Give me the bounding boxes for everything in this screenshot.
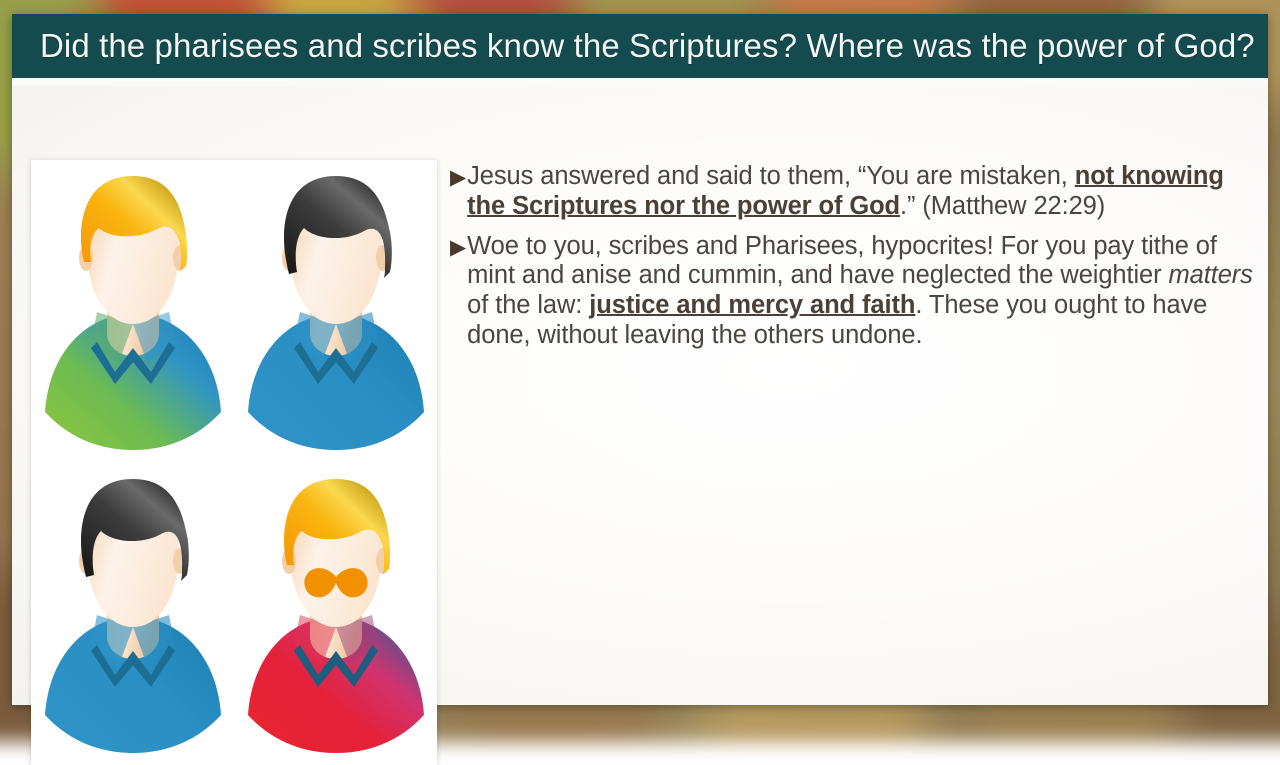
avatar-blond-mustache-red-icon [238,469,434,759]
avatar-dark-blue-icon [35,469,231,759]
bullet-1-segment-plain: Jesus answered and said to them, “You ar… [467,162,1075,190]
slide-body: ▶ Jesus answered and said to them, “You … [12,86,1268,705]
bullet-item-2: ▶ Woe to you, scribes and Pharisees, hyp… [450,232,1256,351]
bullet-2-segment-plain-b: of the law: [467,291,589,319]
avatar-grid [31,160,437,765]
avatar-dark-blue-icon [238,166,434,456]
bullet-2-segment-plain-a: Woe to you, scribes and Pharisees, hypoc… [467,232,1217,290]
avatar-blond-green-blue-icon [35,166,231,456]
bullet-text-1: Jesus answered and said to them, “You ar… [467,162,1256,222]
slide-title-bar: Did the pharisees and scribes know the S… [12,14,1268,78]
page-title: Did the pharisees and scribes know the S… [40,28,1255,64]
bullet-1-segment-citation: .” (Matthew 22:29) [900,192,1105,220]
avatar-illustration-panel [31,160,437,765]
slide-text-column: ▶ Jesus answered and said to them, “You … [450,162,1262,361]
bullet-2-segment-italic: matters [1169,261,1253,289]
avatar-top-left [31,160,234,463]
bullet-triangle-icon: ▶ [450,167,466,189]
bullet-text-2: Woe to you, scribes and Pharisees, hypoc… [467,232,1256,351]
bullet-item-1: ▶ Jesus answered and said to them, “You … [450,162,1256,222]
presentation-slide: Did the pharisees and scribes know the S… [12,14,1268,705]
bullet-triangle-icon: ▶ [450,237,466,259]
bullet-2-segment-emphasis: justice and mercy and faith [589,291,915,319]
avatar-top-right [234,160,437,463]
